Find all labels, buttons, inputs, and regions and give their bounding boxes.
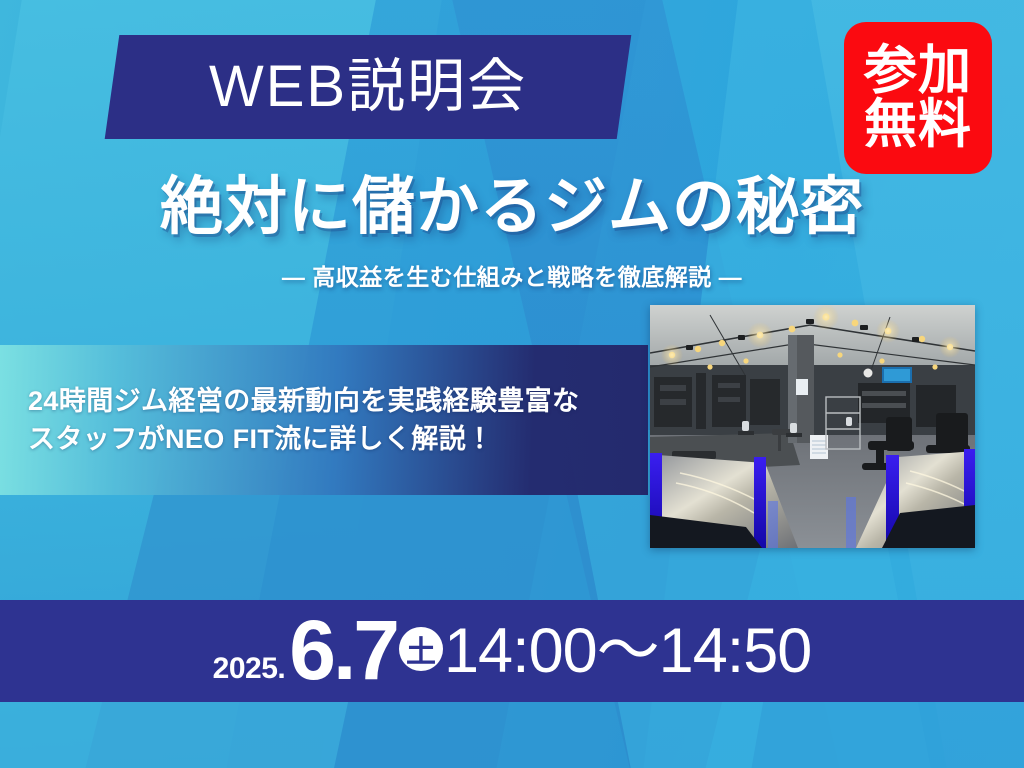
gym-photo-illustration [650,305,975,548]
poster-headline: 絶対に儲かるジムの秘密 [0,174,1024,241]
seminar-poster: WEB説明会 参加 無料 絶対に儲かるジムの秘密 — 高収益を生む仕組みと戦略を… [0,0,1024,768]
gym-interior-photo [650,305,975,548]
webinar-ribbon-label: WEB説明会 [209,58,527,116]
free-badge-line2: 無料 [864,98,972,152]
description-line-2: スタッフがNEO FIT流に詳しく解説！ [28,420,648,458]
schedule-bar: 2025. 6.7 土 14:00～14:50 [0,600,1024,702]
schedule-day-of-week-badge: 土 [399,627,443,671]
schedule-year: 2025. [213,652,286,686]
free-badge-line1: 参加 [864,44,972,98]
description-line-1: 24時間ジム経営の最新動向を実践経験豊富な [28,382,648,420]
webinar-ribbon: WEB説明会 [105,35,632,139]
poster-sub-headline: — 高収益を生む仕組みと戦略を徹底解説 — [0,258,1024,292]
schedule-day: 6.7 [289,611,397,691]
schedule-time: 14:00～14:50 [444,620,811,683]
description-band: 24時間ジム経営の最新動向を実践経験豊富な スタッフがNEO FIT流に詳しく解… [0,345,648,495]
free-participation-badge: 参加 無料 [844,22,992,174]
